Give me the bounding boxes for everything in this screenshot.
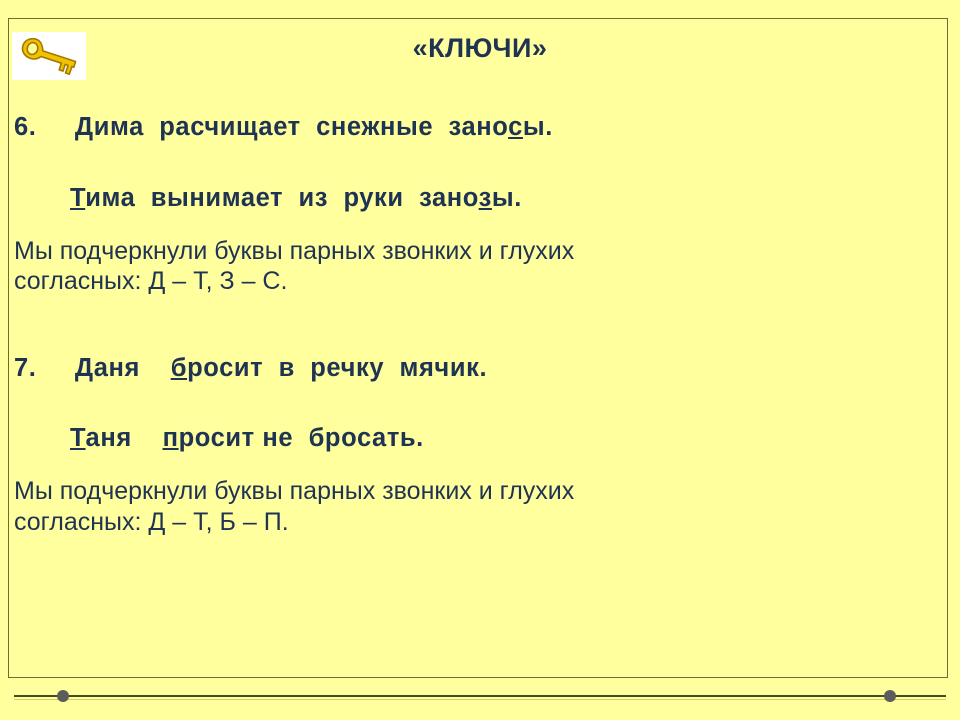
underlined-letter: б [171, 354, 187, 382]
exercise-6-number: 6. [14, 113, 36, 141]
explanation-line: согласных: Д – Т, Б – П. [14, 507, 939, 538]
sentence-text: ы. [523, 113, 553, 141]
bottom-decoration [0, 686, 960, 708]
exercise-7-number: 7. [14, 354, 36, 382]
exercise-7-sentence-b: Таня просит не бросать. [70, 425, 939, 452]
underlined-letter: Т [70, 424, 86, 452]
exercise-7-explanation: Мы подчеркнули буквы парных звонких и гл… [14, 476, 939, 537]
underlined-letter: с [508, 113, 523, 141]
sentence-text: има вынимает из руки зано [85, 184, 478, 212]
underlined-letter: Д [75, 354, 94, 382]
explanation-line: согласных: Д – Т, З – С. [14, 266, 939, 297]
exercise-6-sentence-a: 6. Дима расчищает снежные заносы. [14, 114, 939, 141]
decoration-line-highlight [14, 699, 946, 700]
exercise-6-explanation: Мы подчеркнули буквы парных звонких и гл… [14, 236, 939, 297]
sentence-text: ы. [492, 184, 522, 212]
underlined-letter: з [479, 184, 492, 212]
explanation-line: Мы подчеркнули буквы парных звонких и гл… [14, 236, 939, 267]
exercise-6-sentence-b: Тима вынимает из руки занозы. [70, 185, 939, 212]
underlined-letter: п [163, 424, 179, 452]
decoration-bead-right [884, 690, 896, 702]
sentence-text: росит в речку мячик. [187, 354, 487, 382]
exercise-7-sentence-a: 7. Даня бросит в речку мячик. [14, 355, 939, 382]
explanation-line: Мы подчеркнули буквы парных звонких и гл… [14, 476, 939, 507]
section-gap [14, 297, 939, 349]
sentence-text: росит не бросать. [179, 424, 424, 452]
sentence-text: има расчищает снежные зано [94, 113, 508, 141]
decoration-line [14, 695, 946, 697]
sentence-text: аня [94, 354, 171, 382]
slide-content: 6. Дима расчищает снежные заносы. Тима в… [14, 108, 939, 537]
underlined-letter: Т [70, 184, 85, 212]
slide-root: «КЛЮЧИ» 6. Дима расчищает снежные заносы… [0, 0, 960, 720]
page-title: «КЛЮЧИ» [0, 33, 960, 64]
sentence-text: аня [86, 424, 163, 452]
decoration-bead-left [57, 690, 69, 702]
underlined-letter: Д [75, 113, 94, 141]
